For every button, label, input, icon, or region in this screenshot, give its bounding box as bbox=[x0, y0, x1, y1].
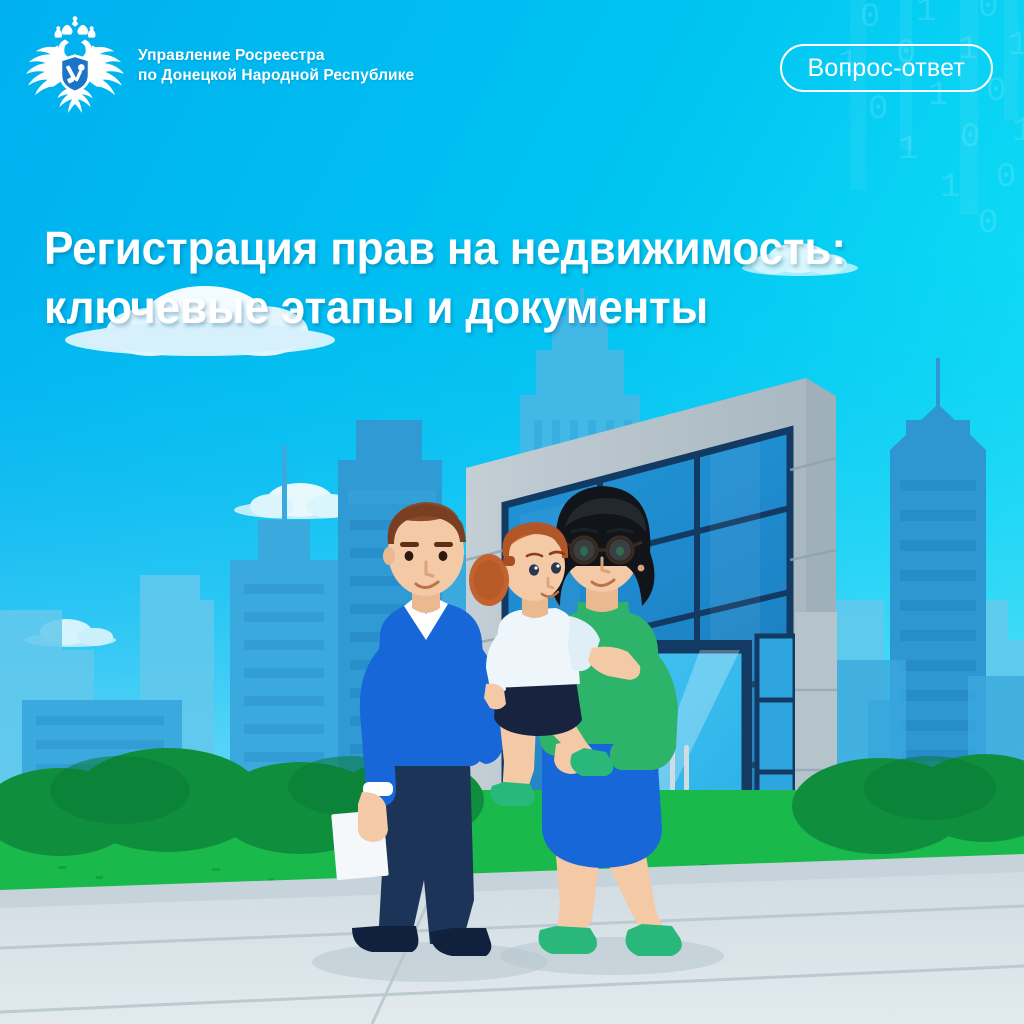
org-name: Управление Росреестра по Донецкой Народн… bbox=[138, 25, 414, 107]
rosreestr-emblem-icon bbox=[26, 16, 124, 116]
brand-block: Управление Росреестра по Донецкой Народн… bbox=[26, 16, 414, 116]
poster-canvas: 010 101 1 010 101 10 0 bbox=[0, 0, 1024, 1024]
svg-text:1: 1 bbox=[940, 169, 960, 207]
child-shorts bbox=[494, 680, 582, 736]
mother-shadow bbox=[500, 937, 724, 975]
question-answer-badge[interactable]: Вопрос-ответ bbox=[780, 44, 993, 92]
mother-shoe-right bbox=[626, 924, 682, 956]
svg-text:0: 0 bbox=[868, 91, 888, 129]
door-handle-right bbox=[684, 745, 689, 791]
illustration-scene: 010 101 1 010 101 10 0 bbox=[0, 0, 1024, 1024]
svg-text:0: 0 bbox=[978, 205, 998, 243]
org-name-line1: Управление Росреестра bbox=[138, 47, 325, 64]
child-shoe-left bbox=[490, 782, 535, 806]
mother-shoe-left bbox=[539, 926, 598, 954]
svg-text:1: 1 bbox=[916, 0, 936, 31]
svg-text:0: 0 bbox=[996, 159, 1016, 197]
father-shoe-left bbox=[352, 926, 418, 952]
org-name-line2: по Донецкой Народной Республике bbox=[138, 66, 414, 86]
svg-text:0: 0 bbox=[978, 0, 998, 27]
